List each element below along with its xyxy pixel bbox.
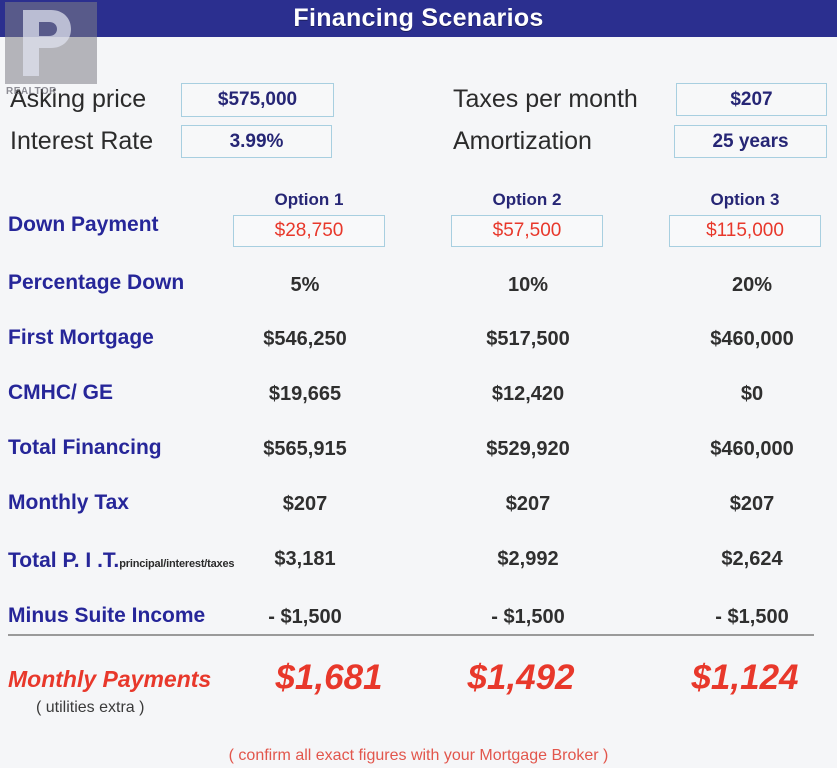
monthly-payment-option-2: $1,492 [436,660,606,695]
footer-disclaimer: ( confirm all exact figures with your Mo… [0,747,837,765]
cell-minus-suite-income-option-3: - $1,500 [676,606,828,629]
section-divider [8,634,814,636]
cell-minus-suite-income-option-1: - $1,500 [229,606,381,629]
cell-first-mortgage-option-3: $460,000 [676,328,828,351]
cell-monthly-tax-option-1: $207 [229,493,381,516]
interest-rate-label: Interest Rate [10,129,153,154]
cell-total-financing-option-2: $529,920 [452,438,604,461]
asking-price-value: $575,000 [218,89,297,111]
cell-total-financing-option-1: $565,915 [229,438,381,461]
cell-first-mortgage-option-2: $517,500 [452,328,604,351]
row-label-first-mortgage: First Mortgage [8,327,154,348]
row-label-total-pit-main: Total P. I .T. [8,549,119,572]
monthly-payments-label: Monthly Payments [8,668,211,691]
down-payment-field-option-2[interactable]: $57,500 [451,215,603,247]
down-payment-value-option-2: $57,500 [493,220,562,242]
column-header-option-2: Option 2 [451,190,603,210]
row-label-cmhc-ge: CMHC/ GE [8,382,113,403]
asking-price-field[interactable]: $575,000 [181,83,334,117]
cell-monthly-tax-option-3: $207 [676,493,828,516]
cell-percentage-down-option-1: 5% [229,274,381,297]
cell-total-pit-option-3: $2,624 [676,548,828,571]
taxes-per-month-field[interactable]: $207 [676,83,827,116]
asking-price-label: Asking price [10,87,146,112]
cell-total-pit-option-2: $2,992 [452,548,604,571]
row-label-minus-suite-income: Minus Suite Income [8,605,205,626]
column-header-option-1: Option 1 [233,190,385,210]
down-payment-value-option-1: $28,750 [275,220,344,242]
down-payment-field-option-3[interactable]: $115,000 [669,215,821,247]
cell-total-pit-option-1: $3,181 [229,548,381,571]
cell-cmhc-ge-option-2: $12,420 [452,383,604,406]
cell-total-financing-option-3: $460,000 [676,438,828,461]
row-label-monthly-tax: Monthly Tax [8,492,129,513]
cell-cmhc-ge-option-3: $0 [676,383,828,406]
cell-minus-suite-income-option-2: - $1,500 [452,606,604,629]
cell-monthly-tax-option-2: $207 [452,493,604,516]
row-label-total-pit-sublabel: principal/interest/taxes [119,558,234,570]
title-bar: Financing Scenarios [0,0,837,37]
cell-percentage-down-option-3: 20% [676,274,828,297]
taxes-per-month-value: $207 [730,89,772,111]
cell-first-mortgage-option-1: $546,250 [229,328,381,351]
monthly-payments-note: ( utilities extra ) [36,699,144,717]
cell-percentage-down-option-2: 10% [452,274,604,297]
row-label-percentage-down: Percentage Down [8,272,184,293]
cell-cmhc-ge-option-1: $19,665 [229,383,381,406]
page-title: Financing Scenarios [293,6,543,31]
financing-scenarios-sheet: Financing Scenarios REALTOR Asking price… [0,0,837,768]
column-header-option-3: Option 3 [669,190,821,210]
monthly-payment-option-3: $1,124 [660,660,830,695]
row-label-total-pit: Total P. I .T.principal/interest/taxes [8,550,234,571]
interest-rate-field[interactable]: 3.99% [181,125,332,158]
amortization-label: Amortization [453,129,592,154]
monthly-payment-option-1: $1,681 [244,660,414,695]
row-label-down-payment: Down Payment [8,214,159,235]
down-payment-value-option-3: $115,000 [706,220,784,242]
row-label-total-financing: Total Financing [8,437,162,458]
amortization-value: 25 years [712,131,788,153]
interest-rate-value: 3.99% [230,131,284,153]
amortization-field[interactable]: 25 years [674,125,827,158]
down-payment-field-option-1[interactable]: $28,750 [233,215,385,247]
taxes-per-month-label: Taxes per month [453,87,638,112]
